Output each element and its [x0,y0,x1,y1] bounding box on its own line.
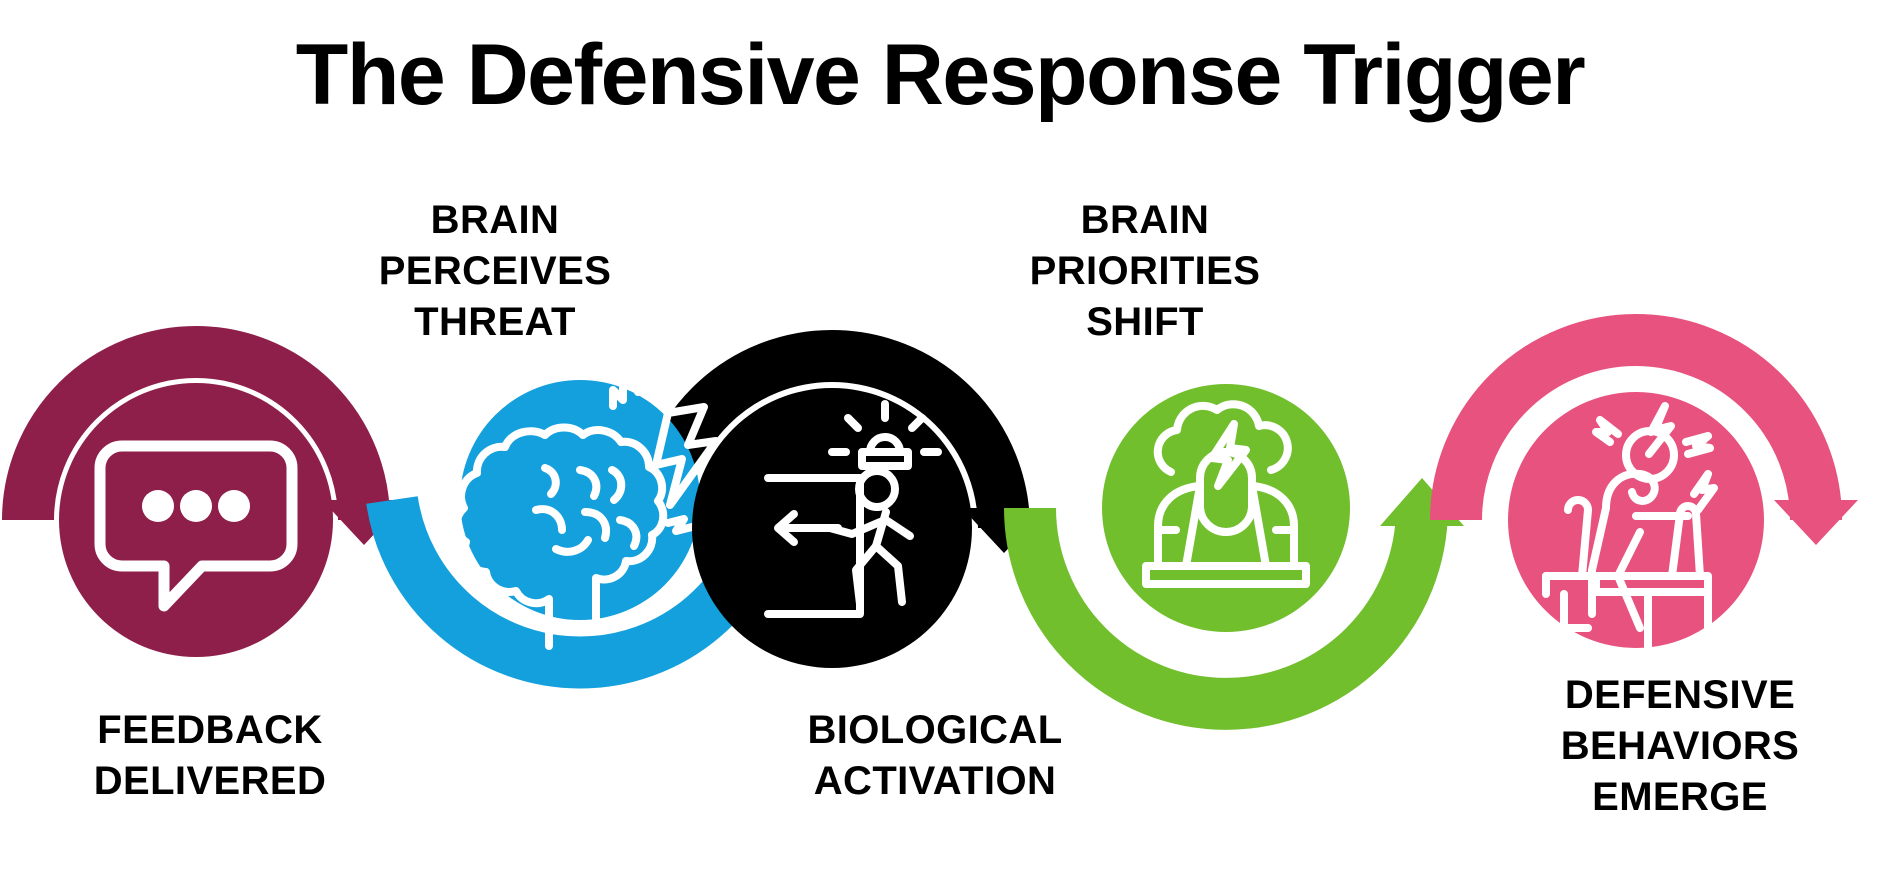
step-circle-4[interactable] [1102,384,1350,632]
step-label-feedback-delivered: FEEDBACK DELIVERED [25,705,395,807]
step-label-brain-perceives-threat: BRAIN PERCEIVES THREAT [310,195,680,349]
infographic-canvas: The Defensive Response Trigger [0,0,1880,887]
step-node-brain-priorities-shift[interactable] [1102,384,1350,632]
step-label-brain-priorities-shift: BRAIN PRIORITIES SHIFT [935,195,1355,349]
step-node-defensive-behaviors-emerge[interactable] [1508,392,1764,656]
step-node-biological-activation[interactable] [692,388,972,668]
arrowhead-down-pink [1774,500,1858,545]
step-label-defensive-behaviors-emerge: DEFENSIVE BEHAVIORS EMERGE [1485,670,1875,824]
step-label-biological-activation: BIOLOGICAL ACTIVATION [725,705,1145,807]
step-node-feedback-delivered[interactable] [59,383,333,657]
